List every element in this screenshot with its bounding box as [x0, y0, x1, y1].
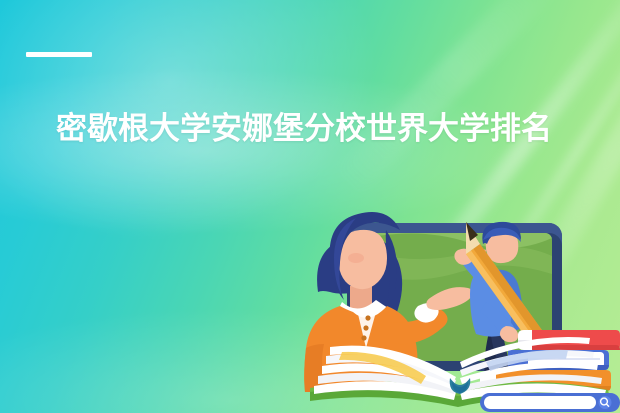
search-icon[interactable] [599, 396, 612, 409]
light-streak-1 [331, 0, 565, 200]
education-study-illustration [300, 200, 620, 413]
page-title: 密歇根大学安娜堡分校世界大学排名 [56, 110, 596, 148]
article-hero-banner: 密歇根大学安娜堡分校世界大学排名 [0, 0, 620, 413]
search-bar[interactable] [480, 393, 620, 412]
accent-rule [26, 52, 92, 57]
